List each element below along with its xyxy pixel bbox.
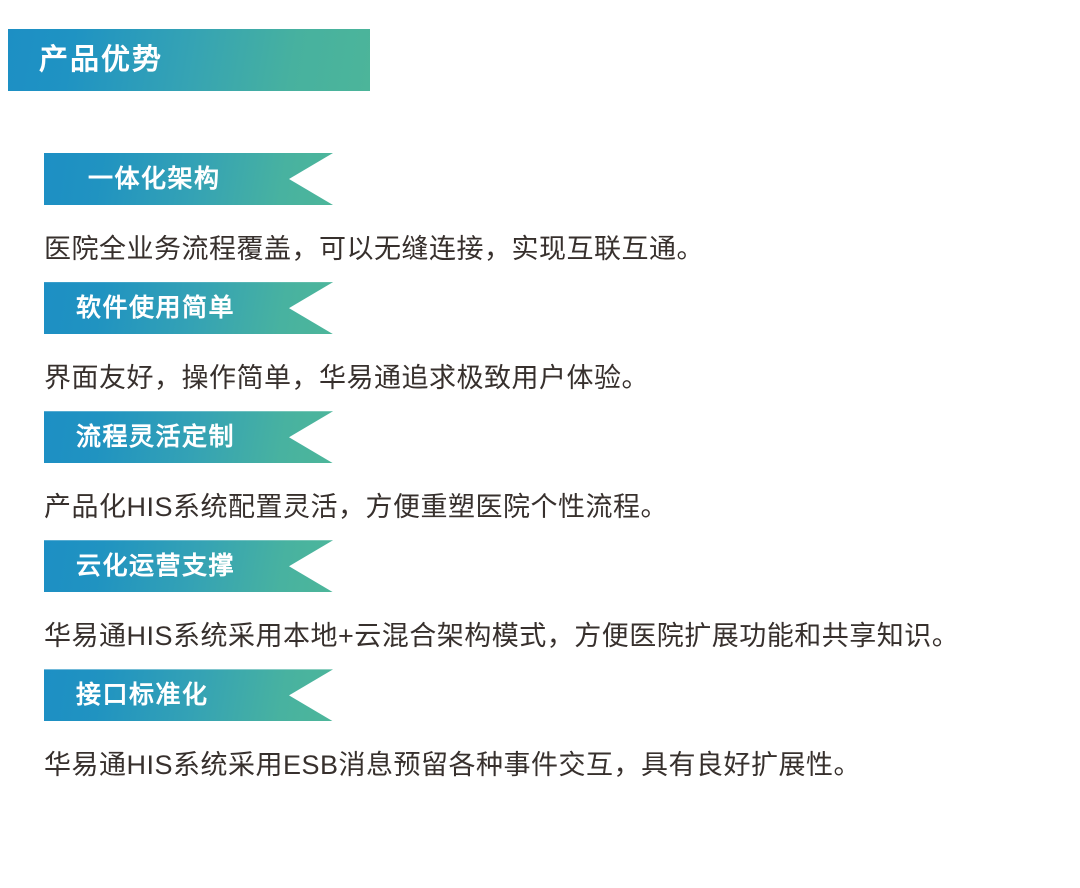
advantage-item: 软件使用简单 界面友好，操作简单，华易通追求极致用户体验。 — [0, 282, 1080, 396]
advantage-description: 界面友好，操作简单，华易通追求极致用户体验。 — [44, 361, 1080, 396]
advantage-ribbon-label: 一体化架构 — [88, 167, 221, 192]
advantage-ribbon-label: 云化运营支撑 — [76, 554, 235, 579]
advantage-ribbon-label: 软件使用简单 — [76, 296, 235, 321]
advantage-description: 华易通HIS系统采用本地+云混合架构模式，方便医院扩展功能和共享知识。 — [44, 619, 1080, 654]
advantage-item: 云化运营支撑 华易通HIS系统采用本地+云混合架构模式，方便医院扩展功能和共享知… — [0, 540, 1080, 654]
advantage-description: 华易通HIS系统采用ESB消息预留各种事件交互，具有良好扩展性。 — [44, 748, 1080, 783]
advantage-description: 产品化HIS系统配置灵活，方便重塑医院个性流程。 — [44, 490, 1080, 525]
advantage-description: 医院全业务流程覆盖，可以无缝连接，实现互联互通。 — [44, 232, 1080, 267]
advantage-item: 接口标准化 华易通HIS系统采用ESB消息预留各种事件交互，具有良好扩展性。 — [0, 669, 1080, 783]
advantage-list: 一体化架构 医院全业务流程覆盖，可以无缝连接，实现互联互通。 软件使用简单 界面… — [0, 153, 1080, 798]
advantage-ribbon-banner: 软件使用简单 — [44, 282, 333, 334]
advantage-ribbon-banner: 云化运营支撑 — [44, 540, 333, 592]
page-title: 产品优势 — [39, 46, 163, 75]
advantage-ribbon-banner: 接口标准化 — [44, 669, 333, 721]
advantage-ribbon-label: 接口标准化 — [76, 683, 209, 708]
advantage-item: 一体化架构 医院全业务流程覆盖，可以无缝连接，实现互联互通。 — [0, 153, 1080, 267]
advantage-ribbon-label: 流程灵活定制 — [76, 425, 235, 450]
page-header-banner: 产品优势 — [8, 29, 370, 91]
advantage-ribbon-banner: 流程灵活定制 — [44, 411, 333, 463]
advantage-item: 流程灵活定制 产品化HIS系统配置灵活，方便重塑医院个性流程。 — [0, 411, 1080, 525]
advantage-ribbon-banner: 一体化架构 — [44, 153, 333, 205]
